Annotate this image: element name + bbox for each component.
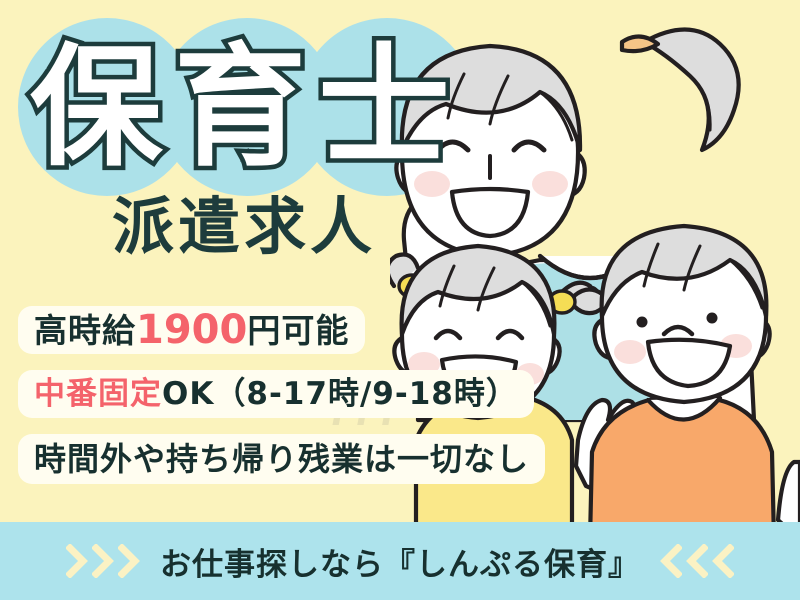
chevron-left-icon bbox=[660, 544, 682, 578]
headline-group: 保育士 bbox=[0, 18, 500, 198]
poster-root: m 保育士 派遣求人 高時給 1900 円可能 中番固定 OK （8-17時/9… bbox=[0, 0, 800, 600]
chevron-right-icon bbox=[118, 544, 140, 578]
bullet-wage: 高時給 1900 円可能 bbox=[18, 306, 365, 354]
chevron-right-icon bbox=[92, 544, 114, 578]
bullet-overtime-text: 時間外や持ち帰り残業は一切なし bbox=[34, 443, 529, 475]
bullet-overtime: 時間外や持ち帰り残業は一切なし bbox=[18, 434, 545, 484]
bullet-shift-accent: 中番固定 bbox=[34, 379, 162, 410]
page-subtitle: 派遣求人 bbox=[112, 196, 376, 258]
bullet-shift-post: OK bbox=[162, 379, 214, 410]
chevron-right-group bbox=[66, 544, 140, 578]
chevron-left-group bbox=[660, 544, 734, 578]
chevron-right-icon bbox=[66, 544, 88, 578]
page-title: 保育士 bbox=[30, 42, 462, 174]
bullet-shift: 中番固定 OK （8-17時/9-18時） bbox=[18, 370, 534, 418]
banner-text: お仕事探しなら『しんぷる保育』 bbox=[160, 539, 640, 584]
chevron-left-icon bbox=[712, 544, 734, 578]
bottom-banner[interactable]: お仕事探しなら『しんぷる保育』 bbox=[0, 522, 800, 600]
bullet-wage-post: 円可能 bbox=[247, 314, 349, 347]
bullet-wage-pre: 高時給 bbox=[34, 314, 136, 347]
chevron-left-icon bbox=[686, 544, 708, 578]
bullet-wage-amount: 1900 bbox=[136, 310, 247, 350]
bullet-shift-hours: （8-17時/9-18時） bbox=[214, 379, 517, 410]
